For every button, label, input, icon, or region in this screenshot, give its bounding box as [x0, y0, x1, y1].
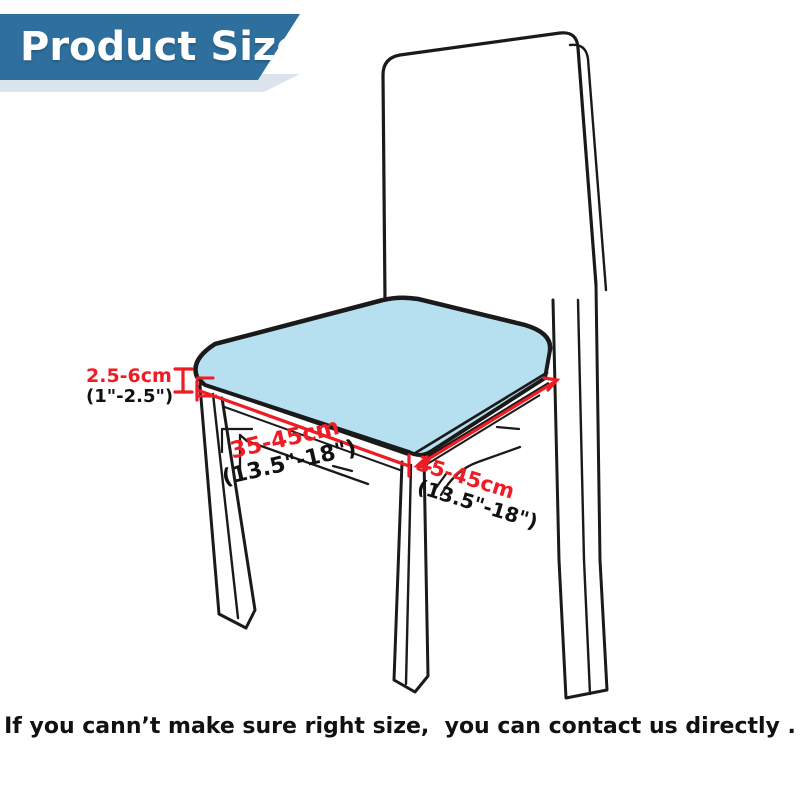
chair-rear-right-leg [553, 285, 607, 698]
chair-left-leg [200, 386, 255, 628]
chair-backrest [383, 33, 606, 300]
dimension-label-seat-thickness: 2.5-6cm (1"-2.5") [86, 366, 173, 406]
contact-caption: If you cann’t make sure right size, you … [0, 714, 800, 739]
seat-cushion [195, 298, 550, 455]
seat-thickness-cm: 2.5-6cm [86, 366, 173, 387]
thickness-marker-icon [175, 369, 192, 392]
seat-thickness-inch: (1"-2.5") [86, 387, 173, 406]
product-size-infographic: Product Size [0, 0, 800, 800]
